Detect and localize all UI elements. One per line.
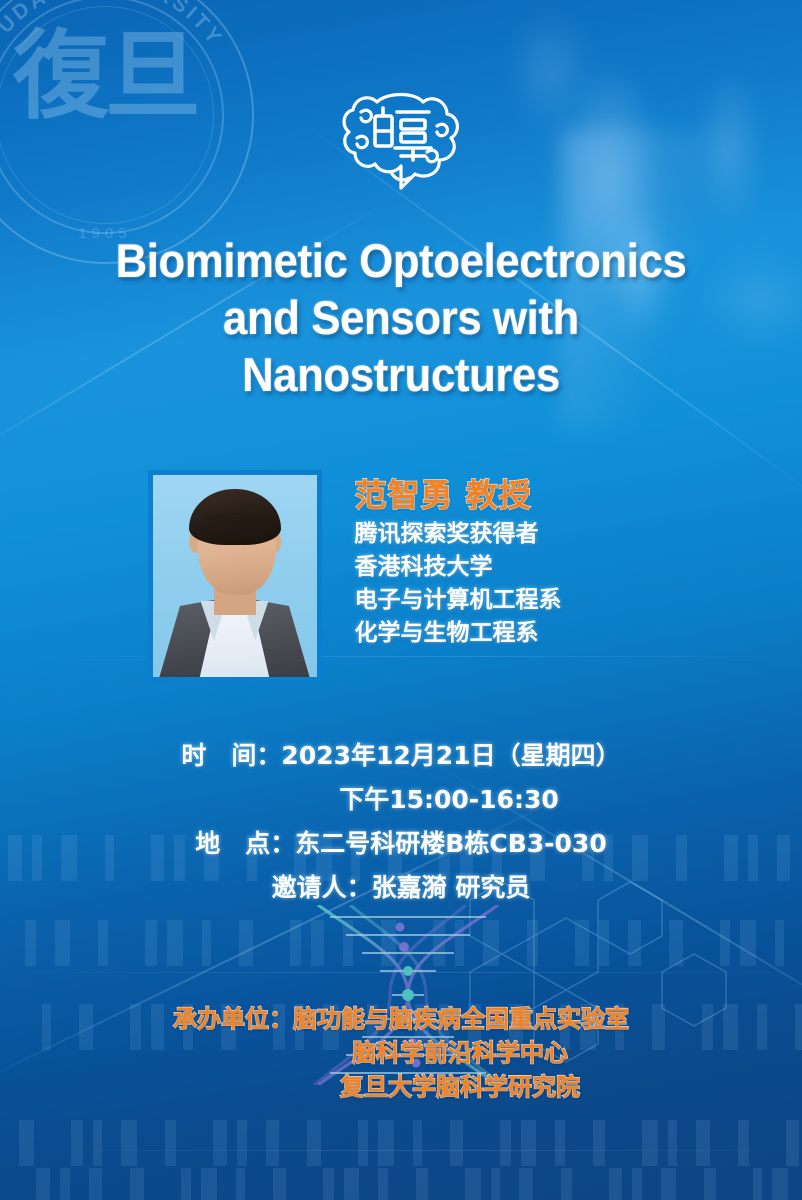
speaker-portrait-image [153,475,317,677]
event-place-row: 地 点：东二号科研楼B栋CB3-030 [0,822,802,866]
speaker-name: 范智勇 教授 [355,474,655,516]
time-label: 时 间： [181,741,281,770]
speaker-info: 范智勇 教授 腾讯探索奖获得者 香港科技大学 电子与计算机工程系 化学与生物工程… [355,470,655,650]
title-line-2: and Sensors with [28,289,774,346]
speaker-section: 范智勇 教授 腾讯探索奖获得者 香港科技大学 电子与计算机工程系 化学与生物工程… [0,470,802,682]
organizer-line-2: 脑科学前沿科学中心 [0,1036,802,1070]
data-bar-band [0,1120,802,1166]
organizer-row-1: 承办单位：脑功能与脑疾病全国重点实验室 [0,1002,802,1036]
speaker-affiliation-1: 香港科技大学 [355,551,655,584]
speaker-affiliation-2: 电子与计算机工程系 [355,584,655,617]
speaker-affiliation-3: 化学与生物工程系 [355,617,655,650]
event-time-row-2: 下午15:00-16:30 [0,778,802,822]
portrait-hair [189,489,281,545]
speaker-photo [148,470,322,682]
title-line-1: Biomimetic Optoelectronics [28,232,774,289]
host-label: 邀请人： [272,873,372,902]
time-value: 2023年12月21日（星期四） [281,741,620,770]
event-details: 时 间：2023年12月21日（星期四） 下午15:00-16:30 地 点：东… [0,734,802,910]
seal-chinese-glyph: 復旦 [0,28,254,124]
place-value: 东二号科研楼B栋CB3-030 [295,829,606,858]
speaker-affiliation-0: 腾讯探索奖获得者 [355,518,655,551]
poster-title: Biomimetic Optoelectronics and Sensors w… [28,232,774,403]
organizers-section: 承办单位：脑功能与脑疾病全国重点实验室 脑科学前沿科学中心 复旦大学脑科学研究院 [0,1002,802,1104]
seminar-poster: FUDAN UNIVERSITY 復旦 1905 Biomim [0,0,802,1200]
event-time-row: 时 间：2023年12月21日（星期四） [0,734,802,778]
title-line-3: Nanostructures [28,346,774,403]
fudan-university-seal-watermark: FUDAN UNIVERSITY 復旦 1905 [0,0,254,264]
organizer-label: 承办单位： [173,1005,293,1033]
brain-logo-icon [331,76,481,196]
place-label: 地 点： [195,829,295,858]
host-value: 张嘉漪 研究员 [372,873,531,902]
data-bar-band [0,1168,802,1200]
organizer-line-1: 脑功能与脑疾病全国重点实验室 [293,1005,629,1033]
organizer-line-3: 复旦大学脑科学研究院 [0,1070,802,1104]
event-host-row: 邀请人：张嘉漪 研究员 [0,866,802,910]
